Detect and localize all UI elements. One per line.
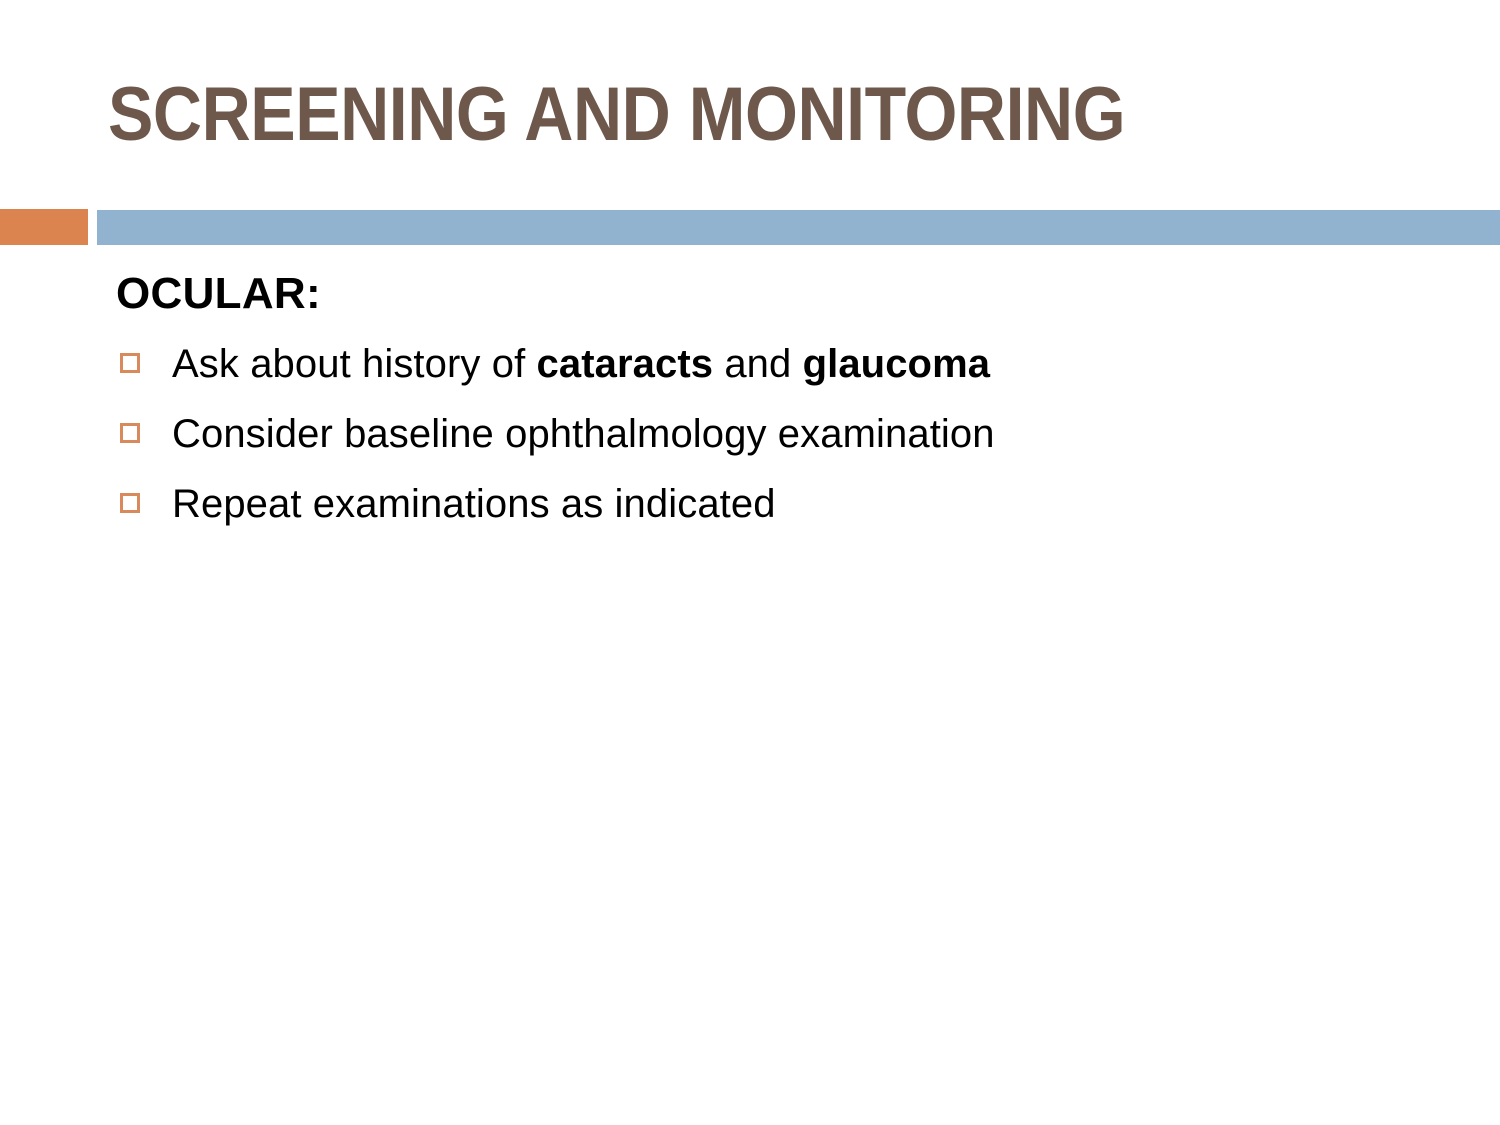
bullet-list: Ask about history of cataracts and glauc… [112,340,1412,528]
list-item-label: Repeat examinations as indicated [172,482,776,526]
title-area: SCREENING AND MONITORING [108,72,1438,192]
page-title: SCREENING AND MONITORING [108,72,1298,158]
title-divider [0,208,1500,248]
slide-body: OCULAR: Ask about history of cataracts a… [112,266,1412,528]
accent-block-orange [0,209,88,245]
list-item-label: Ask about history of cataracts and glauc… [172,342,990,386]
section-heading: OCULAR: [116,266,1412,322]
divider-bar-blue [97,210,1500,245]
list-item: Repeat examinations as indicated [112,480,1412,528]
list-item-label: Consider baseline ophthalmology examinat… [172,412,995,456]
square-bullet-icon [120,353,140,373]
square-bullet-icon [120,423,140,443]
list-item: Ask about history of cataracts and glauc… [112,340,1412,388]
list-item: Consider baseline ophthalmology examinat… [112,410,1412,458]
square-bullet-icon [120,493,140,513]
slide: SCREENING AND MONITORING OCULAR: Ask abo… [0,0,1500,1125]
